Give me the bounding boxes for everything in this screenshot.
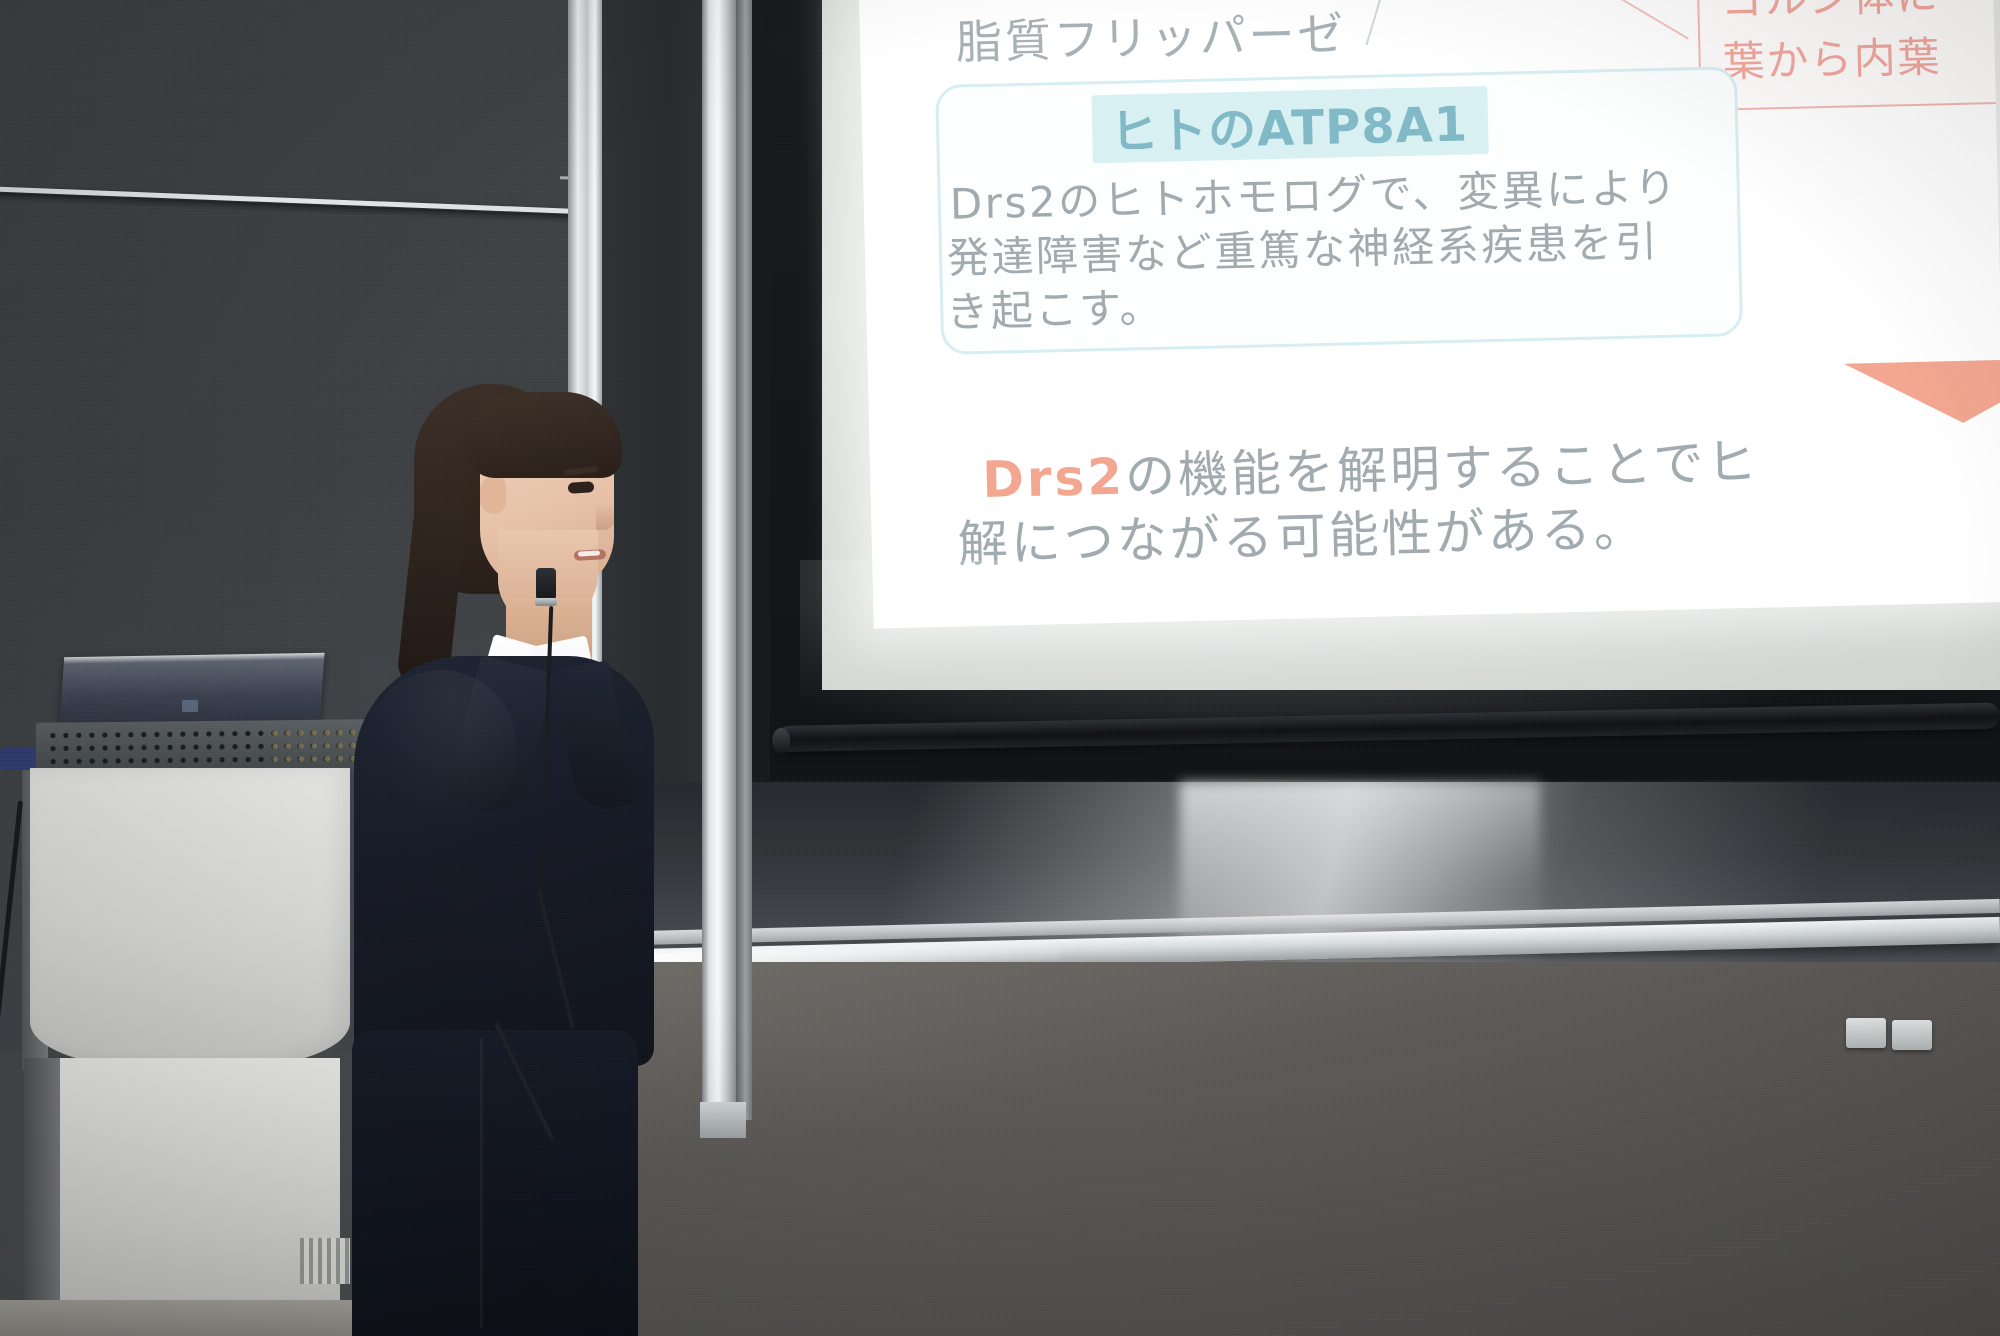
slide-heading: 脂質フリッパーゼ <box>955 0 1347 73</box>
slide-connector-line <box>1559 0 1689 40</box>
wall-below-board <box>560 962 2000 1336</box>
laptop-screen[interactable] <box>59 653 324 726</box>
lectern-speaker-grille <box>36 719 377 775</box>
laptop-logo-icon <box>182 700 198 712</box>
screen-track-foot <box>700 1102 746 1138</box>
lapel-microphone-icon <box>536 568 556 600</box>
presenter-ear <box>480 476 506 514</box>
presenter-shoulder-highlight <box>366 670 516 830</box>
slide-callout-title: ヒトのATP8A1 <box>1109 84 1468 162</box>
slide-down-arrow-icon <box>1844 358 2000 426</box>
lectern-body <box>30 768 350 1068</box>
projection-screen-bar-cap <box>772 728 790 754</box>
projected-slide: 脂質フリッパーゼ ゴルジ体に 葉から内葉 ヒトのATP8A1 Drs2のヒトホモ… <box>859 0 2000 629</box>
presenter-skirt-pleat <box>480 1038 483 1328</box>
slide-red-callout-line-2: 葉から内葉 <box>1722 23 1942 89</box>
presenter <box>330 370 680 1336</box>
presentation-photo-scene: 脂質フリッパーゼ ゴルジ体に 葉から内葉 ヒトのATP8A1 Drs2のヒトホモ… <box>0 0 2000 1336</box>
presenter-skirt <box>352 1030 638 1336</box>
presenter-nose <box>596 504 614 530</box>
presenter-eye <box>568 481 595 494</box>
screen-track-right-inner <box>736 0 752 1120</box>
slide-callout-body-line-3: き起こす。 <box>946 274 1165 340</box>
blue-object <box>0 748 36 770</box>
magnet-clip <box>1846 1018 1886 1048</box>
presenter-bangs <box>464 392 622 478</box>
screen-track-right <box>702 0 736 1120</box>
slide-conclusion-line-2: 解につながる可能性がある。 <box>957 488 1648 576</box>
lapel-microphone-clip <box>535 598 557 606</box>
slide-accent-term: Drs2 <box>982 448 1126 509</box>
magnet-clip <box>1892 1020 1932 1050</box>
lectern-base <box>60 1058 340 1336</box>
slide-connector-line <box>1366 0 1391 45</box>
